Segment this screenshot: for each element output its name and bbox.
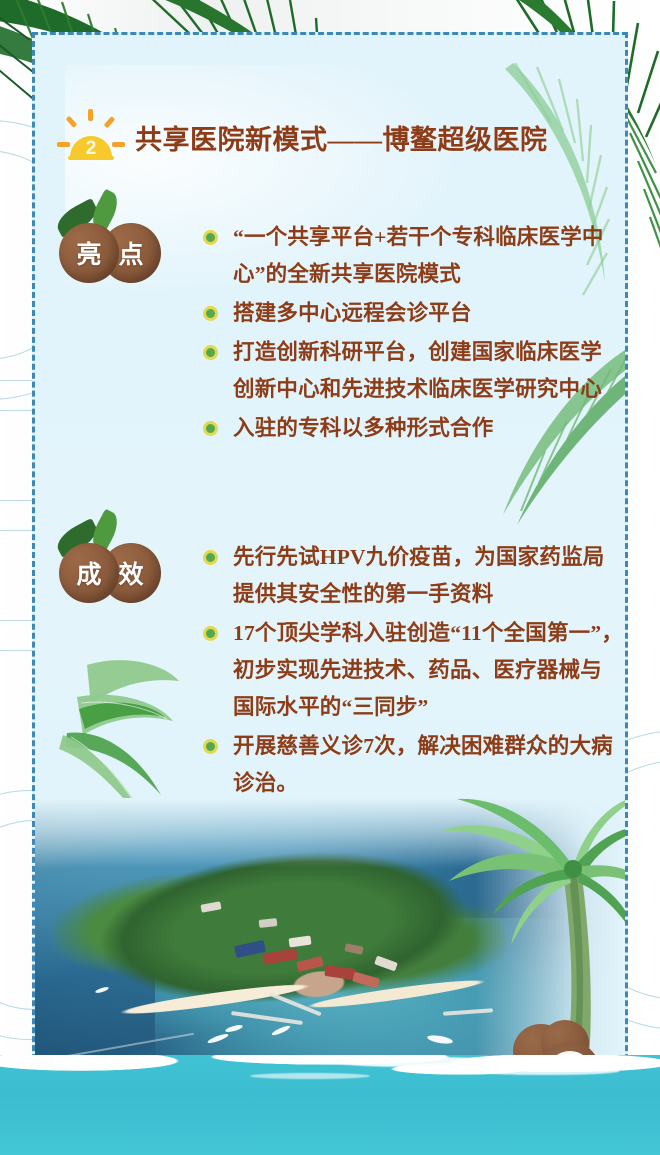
- bullet-dot-icon: [203, 626, 218, 641]
- list-item: 先行先试HPV九价疫苗，为国家药监局提供其安全性的第一手资料: [203, 539, 623, 613]
- list-item-text: 打造创新科研平台，创建国家临床医学创新中心和先进技术临床医学研究中心: [233, 334, 623, 408]
- list-item-text: 17个顶尖学科入驻创造“11个全国第一”，初步实现先进技术、药品、医疗器械与国际…: [233, 615, 623, 726]
- badge-char: 效: [118, 555, 143, 591]
- list-item-text: 开展慈善义诊7次，解决困难群众的大病诊治。: [233, 728, 623, 802]
- badge-char: 成: [76, 555, 101, 591]
- content-card: 2 共享医院新模式——博鳌超级医院 亮 点 “一个共享平台+若干个专科临床医学中…: [32, 32, 628, 1087]
- section-badge-highlights: 亮 点: [55, 207, 173, 285]
- badge-coin-1: 成: [59, 543, 119, 603]
- decor-line: [0, 500, 34, 501]
- section-badge-results: 成 效: [55, 527, 173, 605]
- page-title: 共享医院新模式——博鳌超级医院: [135, 118, 548, 157]
- list-item: 开展慈善义诊7次，解决困难群众的大病诊治。: [203, 728, 623, 802]
- list-item-text: 先行先试HPV九价疫苗，为国家药监局提供其安全性的第一手资料: [233, 539, 623, 613]
- list-item: 搭建多中心远程会诊平台: [203, 295, 623, 332]
- list-item: “一个共享平台+若干个专科临床医学中心”的全新共享医院模式: [203, 219, 623, 293]
- list-item-text: 入驻的专科以多种形式合作: [233, 410, 623, 447]
- poster-root: 2 共享医院新模式——博鳌超级医院 亮 点 “一个共享平台+若干个专科临床医学中…: [0, 0, 660, 1155]
- decor-line: [0, 650, 34, 651]
- bullet-list-results: 先行先试HPV九价疫苗，为国家药监局提供其安全性的第一手资料 17个顶尖学科入驻…: [203, 539, 623, 804]
- bullet-dot-icon: [203, 550, 218, 565]
- wave-foam: [250, 1073, 370, 1079]
- badge-char: 亮: [76, 235, 101, 271]
- bullet-dot-icon: [203, 230, 218, 245]
- decor-line: [0, 530, 34, 531]
- decor-line: [0, 410, 34, 411]
- footer-ocean-band: com 央视网 联播 + L: [0, 1055, 660, 1155]
- header-title-row: 2 共享医院新模式——博鳌超级医院: [57, 109, 548, 165]
- badge-char: 点: [118, 235, 143, 271]
- bullet-dot-icon: [203, 739, 218, 754]
- sun-badge-number: 2: [70, 139, 112, 158]
- list-item-text: 搭建多中心远程会诊平台: [233, 295, 623, 332]
- bullet-list-highlights: “一个共享平台+若干个专科临床医学中心”的全新共享医院模式 搭建多中心远程会诊平…: [203, 219, 623, 449]
- bullet-dot-icon: [203, 421, 218, 436]
- list-item-text: “一个共享平台+若干个专科临床医学中心”的全新共享医院模式: [233, 219, 623, 293]
- list-item: 17个顶尖学科入驻创造“11个全国第一”，初步实现先进技术、药品、医疗器械与国际…: [203, 615, 623, 726]
- decor-line: [0, 620, 34, 621]
- list-item: 入驻的专科以多种形式合作: [203, 410, 623, 447]
- wave-foam: [330, 1057, 510, 1067]
- badge-coin-1: 亮: [59, 223, 119, 283]
- bullet-dot-icon: [203, 345, 218, 360]
- sun-number-icon: 2: [57, 109, 125, 165]
- bullet-dot-icon: [203, 306, 218, 321]
- resort-buildings: [235, 933, 445, 1003]
- wave-foam: [470, 1067, 620, 1075]
- list-item: 打造创新科研平台，创建国家临床医学创新中心和先进技术临床医学研究中心: [203, 334, 623, 408]
- decor-line: [0, 380, 34, 381]
